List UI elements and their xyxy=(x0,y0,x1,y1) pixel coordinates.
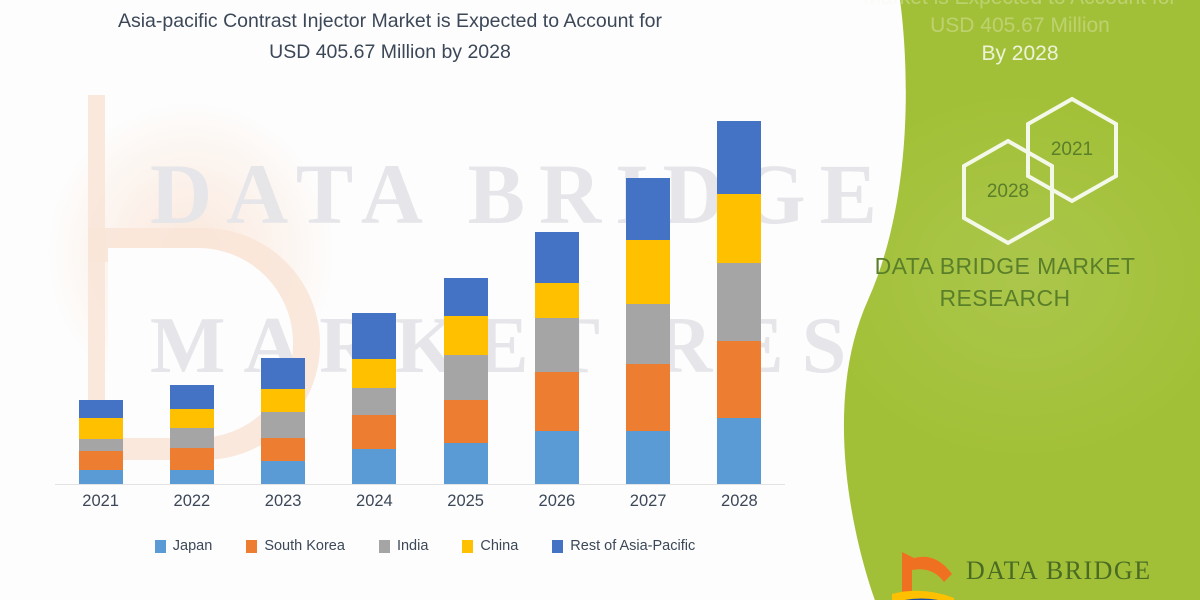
legend-label: Rest of Asia-Pacific xyxy=(570,538,695,554)
chart-title: Asia-pacific Contrast Injector Market is… xyxy=(40,6,740,68)
x-axis-label-2026: 2026 xyxy=(512,492,602,511)
bar-segment-japan[interactable] xyxy=(352,449,396,485)
data-bridge-logo-mark xyxy=(892,548,954,600)
bar-segment-rest-of-asia-pacific[interactable] xyxy=(626,178,670,240)
bar-segment-south-korea[interactable] xyxy=(535,372,579,431)
bar-segment-japan[interactable] xyxy=(626,431,670,485)
bar-segment-china[interactable] xyxy=(352,359,396,388)
bar-segment-china[interactable] xyxy=(79,418,123,438)
stacked-bar[interactable] xyxy=(79,400,123,485)
legend-swatch-icon xyxy=(379,540,390,553)
bar-segment-south-korea[interactable] xyxy=(170,448,214,471)
x-axis-label-2028: 2028 xyxy=(694,492,784,511)
legend-item-china[interactable]: China xyxy=(462,538,518,554)
stacked-bar[interactable] xyxy=(535,232,579,485)
chart-title-line-2: USD 405.67 Million by 2028 xyxy=(40,37,740,68)
hexagon-badge-2028-label: 2028 xyxy=(960,137,1056,247)
x-axis-label-2025: 2025 xyxy=(421,492,511,511)
x-axis-label-2027: 2027 xyxy=(603,492,693,511)
legend-swatch-icon xyxy=(246,540,257,553)
legend-label: South Korea xyxy=(264,538,345,554)
bar-segment-china[interactable] xyxy=(444,316,488,354)
x-axis-label-2022: 2022 xyxy=(147,492,237,511)
stacked-bar-group xyxy=(55,110,785,485)
bar-segment-india[interactable] xyxy=(261,412,305,438)
legend-swatch-icon xyxy=(462,540,473,553)
bar-segment-india[interactable] xyxy=(626,304,670,365)
bar-segment-china[interactable] xyxy=(261,389,305,413)
panel-headline-faded: Market is Expected to Account for USD 40… xyxy=(840,0,1200,40)
bar-column-2025 xyxy=(421,110,511,485)
bar-segment-south-korea[interactable] xyxy=(626,364,670,431)
legend-label: India xyxy=(397,538,428,554)
hexagon-year-badges: 2021 2028 xyxy=(898,95,1128,230)
bar-column-2023 xyxy=(238,110,328,485)
bar-segment-japan[interactable] xyxy=(717,418,761,485)
data-bridge-logo-wordmark: DATA BRIDGE xyxy=(966,556,1152,586)
stacked-bar[interactable] xyxy=(261,358,305,485)
bar-segment-rest-of-asia-pacific[interactable] xyxy=(170,385,214,410)
legend-item-south-korea[interactable]: South Korea xyxy=(246,538,345,554)
bar-segment-south-korea[interactable] xyxy=(352,415,396,449)
bar-column-2022 xyxy=(147,110,237,485)
bar-segment-japan[interactable] xyxy=(170,470,214,485)
stacked-bar[interactable] xyxy=(352,313,396,485)
legend-item-japan[interactable]: Japan xyxy=(155,538,213,554)
legend-item-rest-of-asia-pacific[interactable]: Rest of Asia-Pacific xyxy=(552,538,695,554)
bar-segment-china[interactable] xyxy=(626,240,670,304)
bar-column-2027 xyxy=(603,110,693,485)
bar-segment-india[interactable] xyxy=(717,263,761,342)
bar-segment-south-korea[interactable] xyxy=(261,438,305,462)
panel-brand-line-1: DATA BRIDGE MARKET xyxy=(810,250,1200,282)
bar-segment-india[interactable] xyxy=(444,355,488,400)
bar-segment-india[interactable] xyxy=(170,428,214,447)
x-axis-label-2021: 2021 xyxy=(56,492,146,511)
bar-column-2026 xyxy=(512,110,602,485)
bar-segment-china[interactable] xyxy=(717,194,761,263)
bar-segment-south-korea[interactable] xyxy=(444,400,488,444)
bar-segment-china[interactable] xyxy=(170,409,214,428)
panel-brand-name: DATA BRIDGE MARKET RESEARCH xyxy=(810,250,1200,314)
bar-segment-rest-of-asia-pacific[interactable] xyxy=(352,313,396,359)
chart-plot-area xyxy=(55,110,785,485)
bar-segment-rest-of-asia-pacific[interactable] xyxy=(535,232,579,283)
bar-segment-china[interactable] xyxy=(535,283,579,318)
chart-legend: JapanSouth KoreaIndiaChinaRest of Asia-P… xyxy=(55,538,795,554)
stacked-bar[interactable] xyxy=(170,385,214,486)
data-bridge-logo: DATA BRIDGE xyxy=(870,542,1190,600)
bar-segment-south-korea[interactable] xyxy=(717,341,761,418)
bar-segment-rest-of-asia-pacific[interactable] xyxy=(717,121,761,195)
bar-column-2028 xyxy=(694,110,784,485)
x-axis-label-2024: 2024 xyxy=(329,492,419,511)
bar-segment-japan[interactable] xyxy=(444,443,488,485)
bar-segment-japan[interactable] xyxy=(261,461,305,485)
stacked-bar[interactable] xyxy=(626,178,670,486)
x-axis-label-2023: 2023 xyxy=(238,492,328,511)
chart-title-line-1: Asia-pacific Contrast Injector Market is… xyxy=(40,6,740,37)
panel-headline: Market is Expected to Account for USD 40… xyxy=(840,0,1200,68)
bar-segment-rest-of-asia-pacific[interactable] xyxy=(261,358,305,389)
stacked-bar[interactable] xyxy=(717,121,761,486)
infographic-canvas: DATA BRIDGE MARKET RESEARCH Asia-pacific… xyxy=(0,0,1200,600)
legend-swatch-icon xyxy=(155,540,166,553)
bar-segment-india[interactable] xyxy=(352,388,396,415)
bar-column-2021 xyxy=(56,110,146,485)
bar-segment-rest-of-asia-pacific[interactable] xyxy=(444,278,488,316)
bar-segment-japan[interactable] xyxy=(535,431,579,485)
legend-item-india[interactable]: India xyxy=(379,538,428,554)
legend-label: China xyxy=(480,538,518,554)
bar-segment-south-korea[interactable] xyxy=(79,451,123,470)
bar-segment-india[interactable] xyxy=(535,318,579,372)
legend-swatch-icon xyxy=(552,540,563,553)
x-axis-labels: 20212022202320242025202620272028 xyxy=(55,492,785,511)
panel-brand-line-2: RESEARCH xyxy=(810,282,1200,314)
x-axis-line xyxy=(55,484,785,485)
bar-column-2024 xyxy=(329,110,419,485)
bar-segment-rest-of-asia-pacific[interactable] xyxy=(79,400,123,418)
legend-label: Japan xyxy=(173,538,213,554)
stacked-bar[interactable] xyxy=(444,278,488,485)
bar-segment-japan[interactable] xyxy=(79,470,123,485)
panel-headline-main: By 2028 xyxy=(981,42,1058,65)
bar-segment-india[interactable] xyxy=(79,439,123,452)
hexagon-badge-2028: 2028 xyxy=(960,137,1056,247)
